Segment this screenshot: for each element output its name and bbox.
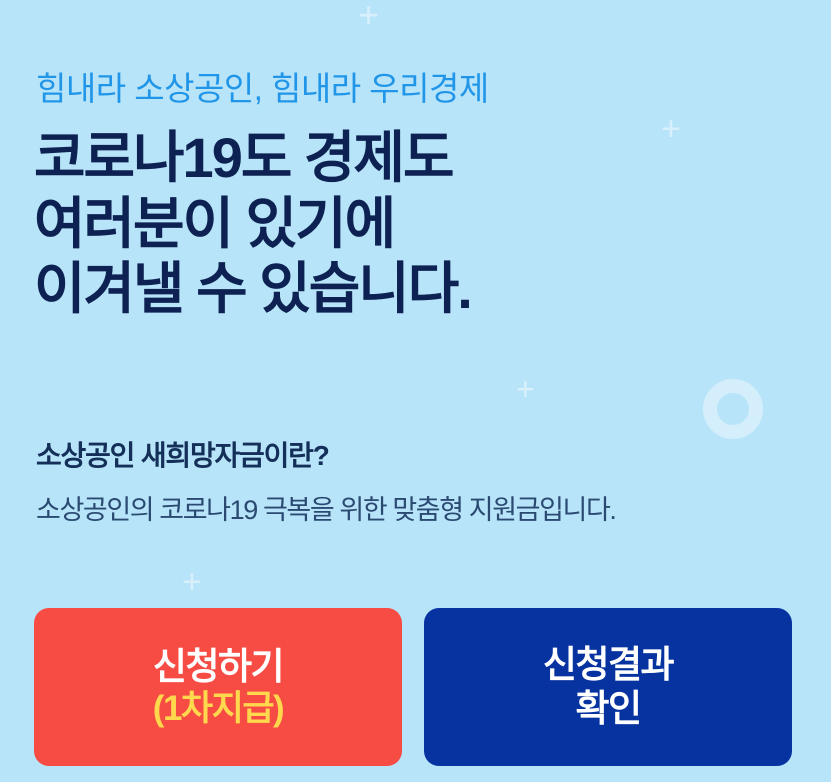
- apply-button-sublabel: (1차지급): [153, 688, 283, 729]
- banner-content: 힘내라 소상공인, 힘내라 우리경제 코로나19도 경제도 여러분이 있기에 이…: [0, 0, 831, 782]
- banner-tagline: 힘내라 소상공인, 힘내라 우리경제: [36, 62, 489, 110]
- promo-banner: + + + + 힘내라 소상공인, 힘내라 우리경제 코로나19도 경제도 여러…: [0, 0, 831, 782]
- banner-headline: 코로나19도 경제도 여러분이 있기에 이겨낼 수 있습니다.: [34, 125, 471, 322]
- check-result-button-label: 신청결과: [543, 643, 673, 687]
- check-result-button-sublabel: 확인: [575, 687, 640, 731]
- apply-button-label: 신청하기: [153, 645, 283, 689]
- headline-line-2: 여러분이 있기에: [34, 191, 471, 257]
- program-description: 소상공인의 코로나19 극복을 위한 맞춤형 지원금입니다.: [36, 488, 616, 527]
- apply-button[interactable]: 신청하기 (1차지급): [34, 608, 402, 766]
- headline-line-1: 코로나19도 경제도: [34, 125, 471, 191]
- check-result-button[interactable]: 신청결과 확인: [424, 608, 792, 766]
- program-question-heading: 소상공인 새희망자금이란?: [36, 434, 329, 474]
- headline-line-3: 이겨낼 수 있습니다.: [34, 256, 471, 322]
- cta-button-row: 신청하기 (1차지급) 신청결과 확인: [34, 608, 792, 766]
